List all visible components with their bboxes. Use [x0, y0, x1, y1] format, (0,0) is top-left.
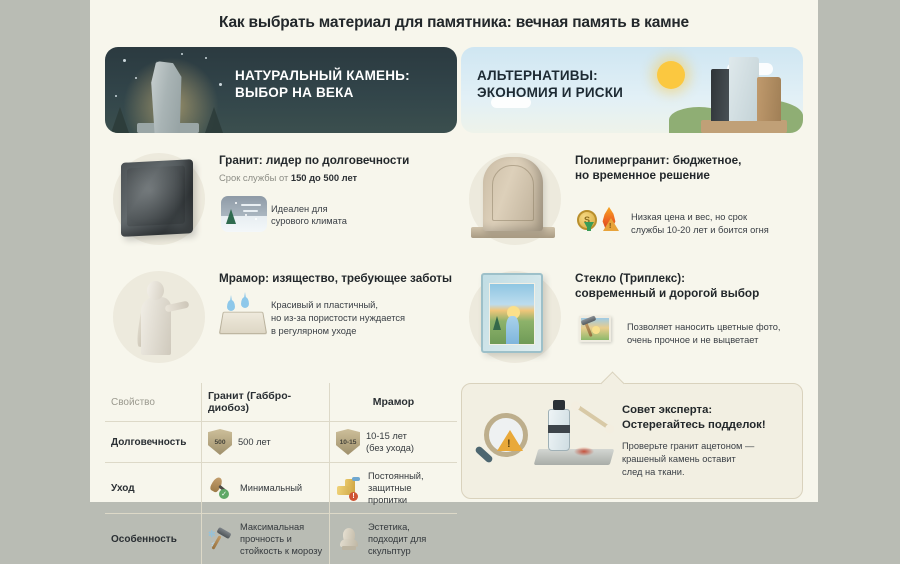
header-granite: Гранит (Габбро-диобоз) [201, 383, 329, 421]
polymer-headstone-icon [483, 157, 543, 231]
polymer-text: Полимергранит: бюджетное, но временное р… [569, 147, 803, 251]
table-header-row: Свойство Гранит (Габбро-диобоз) Мрамор [105, 383, 457, 421]
granite-subtitle-value: 150 до 500 лет [291, 172, 357, 183]
natural-stone-banner: НАТУРАЛЬНЫЙ КАМЕНЬ: ВЫБОР НА ВЕКА [105, 47, 457, 133]
row-marble-cell: Эстетика, подходит для скульптур [329, 514, 457, 564]
page-title: Как выбрать материал для памятника: вечн… [90, 0, 818, 32]
granite-subtitle-prefix: Срок службы от [219, 172, 291, 183]
marble-text: Мрамор: изящество, требующее заботы Крас… [213, 265, 457, 369]
comparison-table: Свойство Гранит (Габбро-диобоз) Мрамор Д… [105, 383, 457, 564]
row-granite-cell: ✓ Минимальный [201, 463, 329, 513]
header-property: Свойство [105, 383, 201, 421]
polymer-illustration [461, 147, 569, 251]
fir-tree-icon [205, 107, 223, 133]
wood-slab-icon [757, 77, 781, 121]
fir-tree-icon [111, 107, 129, 133]
row-marble-text: 10-15 лет (без ухода) [366, 430, 414, 454]
landscape-scene-icon [489, 283, 535, 345]
winter-landscape-icon [219, 195, 271, 235]
glass-panel-icon [481, 273, 543, 353]
right-margin [818, 0, 900, 502]
polymer-note: S Низкая цена и вес, но срок службы 10-2… [575, 204, 803, 244]
row-marble-cell: ! Постоянный, защитные пропитки [329, 463, 457, 513]
cotton-swab-icon [575, 404, 612, 430]
polymer-title: Полимергранит: бюджетное, но временное р… [575, 153, 803, 184]
granite-illustration [105, 147, 213, 251]
polymer-note-text: Низкая цена и вес, но срок службы 10-20 … [631, 211, 769, 236]
row-marble-cell: 10-15 10-15 лет (без ухода) [329, 422, 457, 462]
marble-tile-water-drops-icon [219, 298, 271, 338]
granite-climate-note: Идеален для сурового климата [219, 195, 457, 235]
glass-block: Стекло (Триплекс): современный и дорогой… [461, 265, 803, 369]
marble-block: Мрамор: изящество, требующее заботы Крас… [105, 265, 457, 369]
expert-tip-callout: Совет эксперта: Остерегайтесь подделок! … [461, 383, 803, 499]
granite-block: Гранит: лидер по долговечности Срок служ… [105, 147, 457, 251]
tip-illustration [462, 385, 622, 497]
granite-climate-text: Идеален для сурового климата [271, 203, 347, 228]
marble-title: Мрамор: изящество, требующее заботы [219, 271, 457, 286]
row-marble-text: Эстетика, подходит для скульптур [368, 521, 426, 557]
row-granite-text: 500 лет [238, 436, 271, 448]
alternatives-column: АЛЬТЕРНАТИВЫ: ЭКОНОМИЯ И РИСКИ Полимергр… [461, 47, 803, 499]
glass-illustration [461, 265, 569, 369]
red-stain-icon [574, 447, 594, 456]
shield-badge-value: 10-15 [340, 439, 357, 446]
row-granite-cell: ✻✻ Максимальная прочность и стойкость к … [201, 514, 329, 564]
magnifier-warning-icon [484, 413, 528, 457]
sculpture-bust-icon [336, 526, 362, 552]
left-margin [0, 0, 90, 502]
shield-badge-value: 500 [214, 439, 225, 446]
row-property: Долговечность [105, 422, 201, 462]
coin-flame-icons: S [575, 204, 631, 244]
glass-title: Стекло (Триплекс): современный и дорогой… [575, 271, 803, 302]
row-granite-cell: 500 500 лет [201, 422, 329, 462]
plinth [701, 120, 787, 133]
columns-container: НАТУРАЛЬНЫЙ КАМЕНЬ: ВЫБОР НА ВЕКА Гранит… [90, 47, 818, 502]
marble-care-text: Красивый и пластичный, но из-за пористос… [271, 299, 405, 337]
polymer-block: Полимергранит: бюджетное, но временное р… [461, 147, 803, 251]
row-granite-text: Минимальный [240, 482, 302, 494]
header-marble: Мрамор [329, 383, 457, 421]
marble-statue-icon [125, 275, 189, 359]
tip-heading: Совет эксперта: Остерегайтесь подделок! [622, 403, 790, 433]
bottle-label [548, 425, 570, 433]
row-granite-text: Максимальная прочность и стойкость к мор… [240, 521, 322, 557]
marble-care-note: Красивый и пластичный, но из-за пористос… [219, 298, 457, 338]
glass-slab-icon [729, 57, 759, 121]
marble-illustration [105, 265, 213, 369]
natural-stone-heading: НАТУРАЛЬНЫЙ КАМЕНЬ: ВЫБОР НА ВЕКА [235, 67, 410, 102]
color-photo-icon [575, 314, 627, 354]
table-row: Долговечность 500 500 лет 10-15 10-15 ле… [105, 421, 457, 462]
row-marble-text: Постоянный, защитные пропитки [368, 470, 424, 506]
tip-body: Проверьте гранит ацетоном — крашеный кам… [622, 440, 790, 478]
granite-subtitle: Срок службы от 150 до 500 лет [219, 172, 457, 183]
tip-text: Совет эксперта: Остерегайтесь подделок! … [622, 403, 802, 478]
glass-text: Стекло (Триплекс): современный и дорогой… [569, 265, 803, 369]
glass-note: Позволяет наносить цветные фото, очень п… [575, 314, 803, 354]
shield-badge-icon: 10-15 [336, 429, 360, 455]
down-arrow-icon [584, 222, 594, 231]
row-property: Особенность [105, 514, 201, 564]
granite-title: Гранит: лидер по долговечности [219, 153, 457, 168]
infographic-page: Как выбрать материал для памятника: вечн… [90, 0, 818, 502]
warning-triangle-icon [603, 218, 619, 231]
glass-note-text: Позволяет наносить цветные фото, очень п… [627, 321, 780, 346]
row-property: Уход [105, 463, 201, 513]
hammer-snowflake-icon: ✻✻ [208, 526, 234, 552]
spray-sponge-warning-icon: ! [336, 475, 362, 501]
table-row: Уход ✓ Минимальный ! Постоянный, защитны… [105, 462, 457, 513]
broom-check-icon: ✓ [208, 475, 234, 501]
alternatives-banner: АЛЬТЕРНАТИВЫ: ЭКОНОМИЯ И РИСКИ [461, 47, 803, 133]
alternatives-heading: АЛЬТЕРНАТИВЫ: ЭКОНОМИЯ И РИСКИ [477, 67, 623, 102]
bottle-cap [553, 400, 565, 410]
granite-block-icon [121, 159, 193, 237]
natural-stone-column: НАТУРАЛЬНЫЙ КАМЕНЬ: ВЫБОР НА ВЕКА Гранит… [105, 47, 457, 564]
table-row: Особенность ✻✻ Максимальная прочность и … [105, 513, 457, 564]
sun-icon [657, 61, 685, 89]
shield-badge-icon: 500 [208, 429, 232, 455]
granite-text: Гранит: лидер по долговечности Срок служ… [213, 147, 457, 251]
